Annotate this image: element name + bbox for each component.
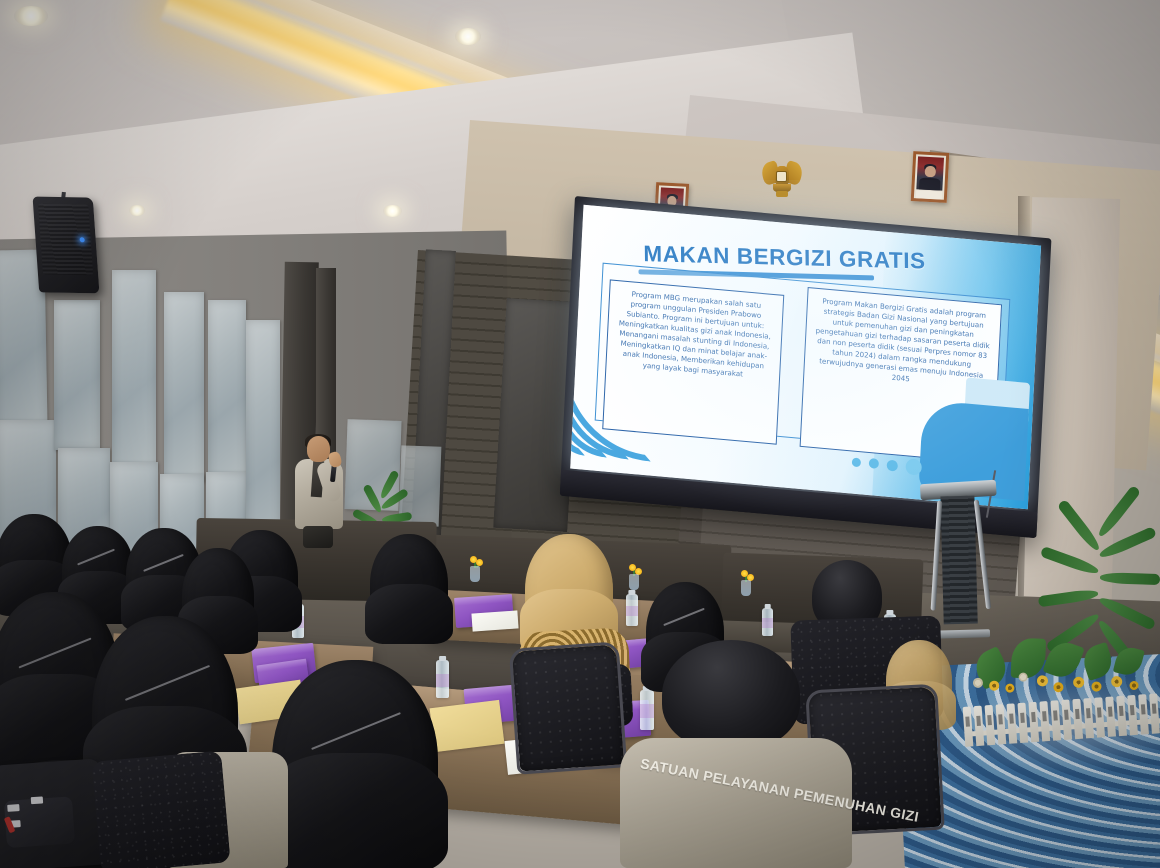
- presenter-speaker: [291, 436, 353, 546]
- wall-panel-mosaic: [54, 300, 100, 450]
- wall-panel-mosaic: [164, 292, 204, 482]
- white-flower-icon: [1018, 672, 1028, 682]
- seminar-hall-photo: MAKAN BERGIZI GRATIS Program MBG merupak…: [0, 0, 1160, 868]
- sunflower-icon: [989, 680, 1000, 691]
- screen-surface: MAKAN BERGIZI GRATIS Program MBG merupak…: [570, 205, 1041, 509]
- downlight-icon: [129, 205, 145, 216]
- sunflower-icon: [1053, 682, 1064, 693]
- sunflower-icon: [1111, 676, 1123, 688]
- water-bottle[interactable]: [762, 608, 773, 636]
- audience-member-front: [272, 660, 438, 868]
- downlight-icon: [14, 6, 48, 26]
- flower-vase: [625, 564, 643, 590]
- sunflower-icon: [1073, 676, 1085, 688]
- pa-speaker-icon: [33, 197, 100, 294]
- wall-panel-mosaic: [112, 270, 156, 470]
- water-bottle[interactable]: [640, 690, 654, 730]
- flower-vase: [737, 570, 755, 596]
- audience-member-grey-shirt: [656, 640, 806, 740]
- picket-fence-planter: [959, 643, 1160, 747]
- yellow-notepad[interactable]: [430, 700, 505, 752]
- slide-wave-decoration-icon: [570, 355, 657, 462]
- black-backpack[interactable]: [0, 758, 108, 868]
- water-bottle[interactable]: [626, 594, 638, 626]
- speaker-power-led-icon: [79, 237, 84, 242]
- wall-panel-mosaic: [208, 300, 246, 480]
- white-flower-icon: [973, 677, 984, 688]
- downlight-icon: [455, 28, 481, 45]
- paper-sheet[interactable]: [471, 610, 518, 631]
- sunflower-icon: [1037, 675, 1049, 687]
- chair-back[interactable]: [512, 645, 624, 772]
- portrait-frame-right: [911, 151, 950, 203]
- lectern[interactable]: [926, 481, 992, 633]
- flower-vase: [466, 556, 484, 582]
- audience-member: [370, 534, 448, 638]
- presentation-slide: MAKAN BERGIZI GRATIS Program MBG merupak…: [570, 205, 1041, 509]
- chair-back[interactable]: [91, 751, 230, 868]
- garuda-pancasila-emblem-icon: [762, 158, 802, 198]
- downlight-icon: [383, 205, 402, 217]
- sunflower-icon: [1005, 683, 1015, 693]
